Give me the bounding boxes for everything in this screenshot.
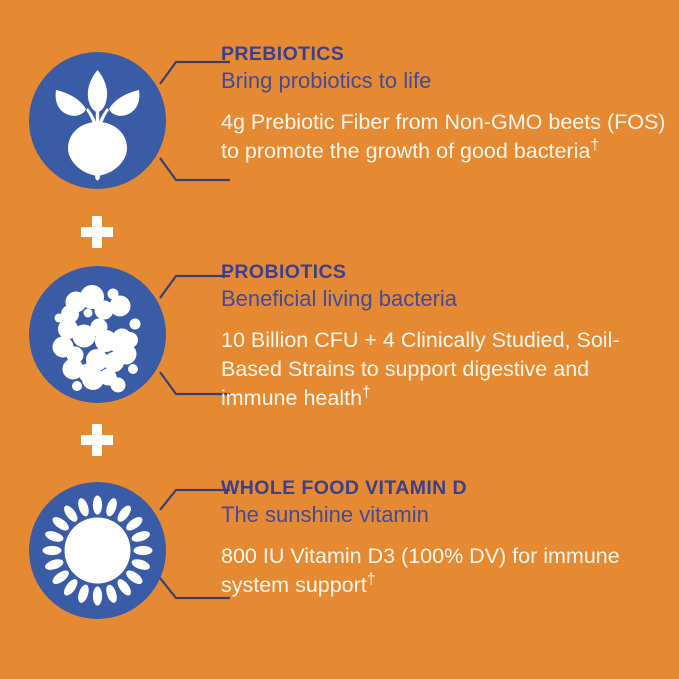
- feature-detail-text: 10 Billion CFU + 4 Clinically Studied, S…: [221, 328, 620, 410]
- feature-block-vitamin-d: WHOLE FOOD VITAMIN D The sunshine vitami…: [0, 474, 679, 634]
- plus-bar-vertical: [92, 216, 102, 248]
- feature-text-vitamin-d: WHOLE FOOD VITAMIN D The sunshine vitami…: [221, 478, 671, 600]
- feature-detail: 4g Prebiotic Fiber from Non-GMO beets (F…: [221, 108, 671, 166]
- plus-separator-2: [81, 424, 113, 456]
- plus-bar-vertical: [92, 424, 102, 456]
- bacteria-cluster-icon: [29, 266, 166, 403]
- feature-text-prebiotics: PREBIOTICS Bring probiotics to life 4g P…: [221, 44, 671, 166]
- feature-kicker: WHOLE FOOD VITAMIN D: [221, 478, 671, 498]
- feature-text-probiotics: PROBIOTICS Beneficial living bacteria 10…: [221, 262, 671, 413]
- dagger-symbol: †: [590, 137, 599, 154]
- feature-block-probiotics: PROBIOTICS Beneficial living bacteria 10…: [0, 258, 679, 438]
- feature-detail-text: 800 IU Vitamin D3 (100% DV) for immune s…: [221, 544, 620, 597]
- connector-bracket: [160, 262, 230, 408]
- sun-icon: [29, 482, 166, 619]
- dagger-symbol: †: [362, 384, 371, 401]
- feature-kicker: PREBIOTICS: [221, 44, 671, 64]
- feature-detail: 10 Billion CFU + 4 Clinically Studied, S…: [221, 326, 671, 414]
- feature-block-prebiotics: PREBIOTICS Bring probiotics to life 4g P…: [0, 40, 679, 220]
- feature-detail: 800 IU Vitamin D3 (100% DV) for immune s…: [221, 542, 671, 600]
- feature-subhead: Beneficial living bacteria: [221, 284, 671, 313]
- infographic-canvas: PREBIOTICS Bring probiotics to life 4g P…: [0, 0, 679, 679]
- plus-separator-1: [81, 216, 113, 248]
- feature-subhead: Bring probiotics to life: [221, 66, 671, 95]
- dagger-symbol: †: [367, 571, 376, 588]
- feature-kicker: PROBIOTICS: [221, 262, 671, 282]
- connector-bracket: [160, 48, 230, 194]
- beet-icon: [29, 52, 166, 189]
- connector-bracket: [160, 478, 230, 610]
- feature-subhead: The sunshine vitamin: [221, 500, 671, 529]
